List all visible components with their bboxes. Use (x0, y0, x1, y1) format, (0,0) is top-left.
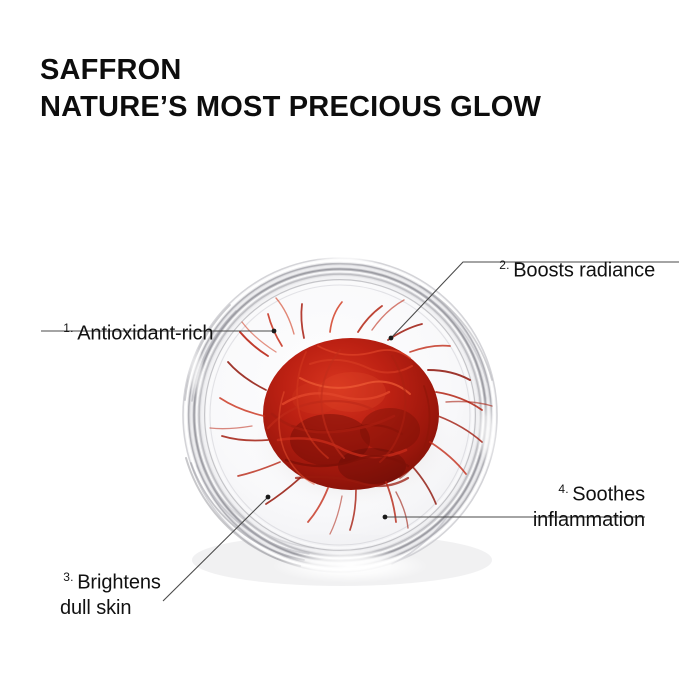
callout-label-boosts-radiance: 2. Boosts radiance (477, 228, 655, 309)
rim-highlight-top (299, 239, 403, 265)
callout-label-brightens-dull-skin: 3. Brightensdull skin (41, 540, 161, 671)
callout-text-4-line-2: inflammation (345, 508, 645, 533)
product-infographic: SAFFRON NATURE’S MOST PRECIOUS GLOW (0, 0, 679, 679)
callout-text-4-line-1: Soothes (572, 484, 645, 506)
callout-label-antioxidant-rich: 1. Antioxidant-rich (41, 291, 213, 372)
leader-dot-3 (266, 495, 271, 500)
callout-number-2: 2. (499, 258, 513, 272)
callout-text-1: Antioxidant-rich (77, 323, 213, 345)
leader-dot-2 (389, 336, 394, 341)
callout-number-4: 4. (558, 482, 572, 496)
callout-text-3-line-2: dull skin (41, 596, 161, 621)
leader-dot-1 (272, 329, 277, 334)
callout-label-soothes-inflammation: 4. Soothesinflammation (345, 452, 645, 583)
callout-text-2: Boosts radiance (513, 260, 655, 282)
callout-number-3: 3. (63, 570, 77, 584)
callout-number-1: 1. (63, 321, 77, 335)
callout-text-3-line-1: Brightens (77, 572, 161, 594)
